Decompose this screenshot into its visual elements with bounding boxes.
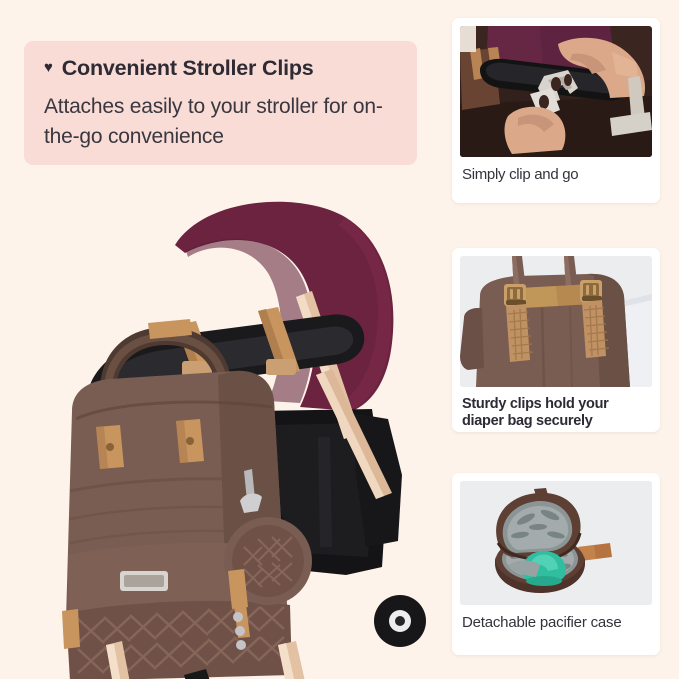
card-caption-sturdy-clips: Sturdy clips hold your diaper bag secure… [452, 387, 660, 430]
hero-product-photo [0, 175, 445, 679]
feature-card-sturdy-clips[interactable]: Sturdy clips hold your diaper bag secure… [452, 248, 660, 432]
card-photo-sturdy-clips [460, 256, 652, 387]
page-title: Convenient Stroller Clips [62, 56, 314, 81]
feature-card-simply-clip-and-go[interactable]: Simply clip and go [452, 18, 660, 203]
feature-title-row: ♥ Convenient Stroller Clips [44, 56, 397, 81]
pacifier-case-illustration [460, 481, 652, 605]
feature-highlight-panel: ♥ Convenient Stroller Clips Attaches eas… [24, 41, 417, 165]
sturdy-clips-illustration [460, 256, 652, 387]
card-caption-pacifier-case: Detachable pacifier case [452, 605, 660, 632]
card-photo-clip-and-go [460, 26, 652, 157]
card-caption-simply-clip-and-go: Simply clip and go [452, 157, 660, 184]
feature-card-pacifier-case[interactable]: Detachable pacifier case [452, 473, 660, 655]
card-photo-pacifier-case [460, 481, 652, 605]
heart-icon: ♥ [44, 60, 53, 75]
clip-and-go-illustration [460, 26, 652, 157]
feature-subtitle: Attaches easily to your stroller for on-… [44, 92, 397, 152]
hero-illustration [0, 175, 445, 679]
